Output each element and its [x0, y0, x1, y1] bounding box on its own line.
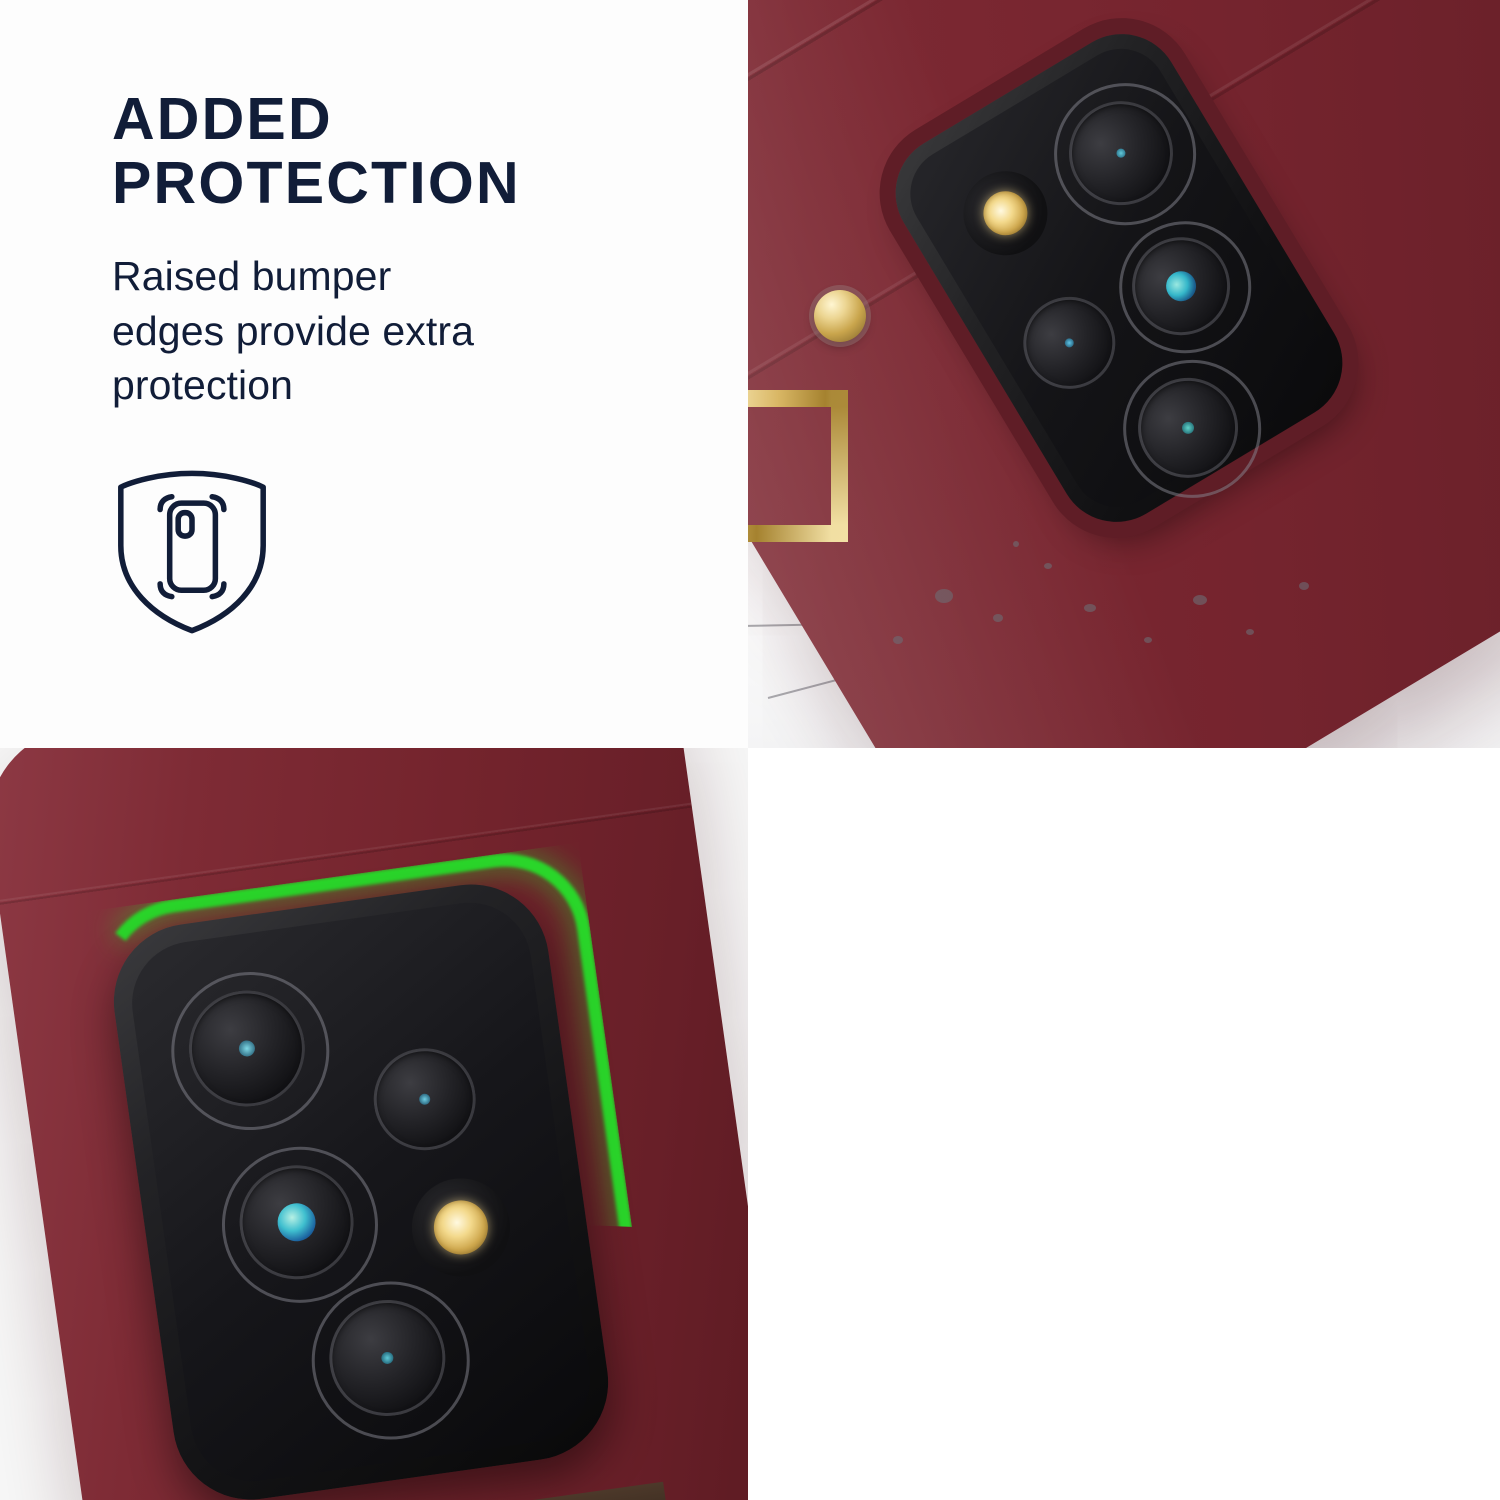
added-protection-headline: ADDED PROTECTION [112, 88, 692, 215]
added-protection-subline: Raised bumper edges provide extra protec… [112, 249, 692, 413]
gold-rivet [814, 290, 866, 342]
camera-lens-2 [1006, 280, 1132, 406]
camera-lens-2 [367, 1042, 482, 1157]
quadrant-impact-photo [748, 0, 1500, 748]
feature-infographic: ADDED PROTECTION Raised bumper edges pro… [0, 0, 1500, 1500]
shield-phone-icon [112, 467, 272, 637]
quadrant-protects-camera: PROTECTS CAMERA Raised edges protect cam… [748, 748, 1500, 1500]
quadrant-added-protection: ADDED PROTECTION Raised bumper edges pro… [0, 0, 748, 748]
camera-module-closeup-photo [0, 748, 748, 1500]
camera-module [104, 874, 618, 1500]
added-protection-panel: ADDED PROTECTION Raised bumper edges pro… [112, 88, 692, 637]
phone-case-impact-photo [748, 0, 1500, 748]
camera-module-inner [124, 895, 598, 1490]
quadrant-camera-closeup-photo [0, 748, 748, 1500]
